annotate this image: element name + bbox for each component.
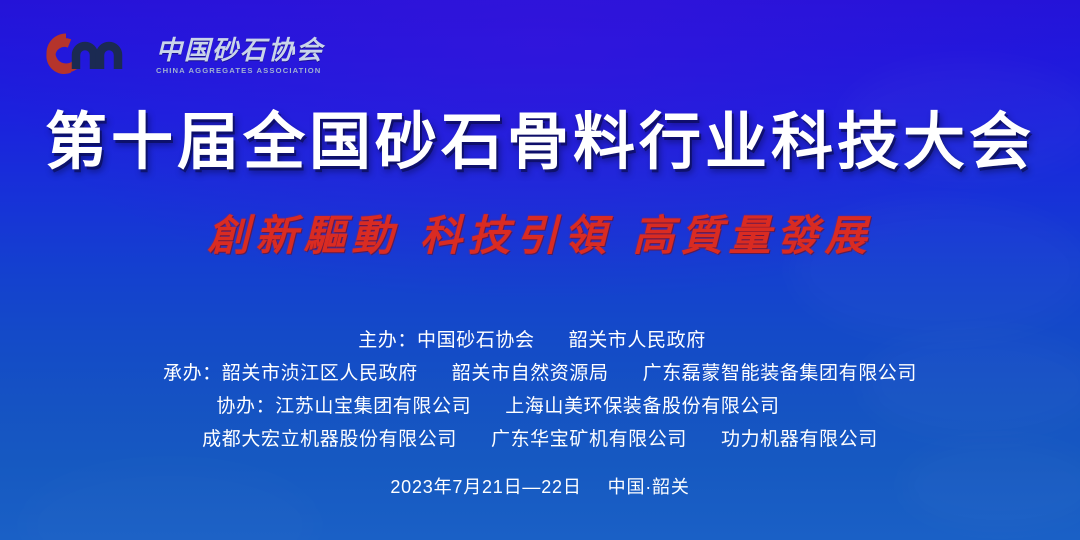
- organizer-entity: 韶关市浈江区人民政府: [222, 363, 418, 384]
- organizer-entity: 功力机器有限公司: [721, 429, 878, 450]
- organizer-role-label: 承办：: [163, 363, 222, 384]
- association-logo: 中国砂石协会 CHINA AGGREGATES ASSOCIATION: [36, 28, 324, 84]
- association-name-english: CHINA AGGREGATES ASSOCIATION: [156, 67, 327, 75]
- association-name-chinese: 中国砂石协会: [156, 38, 324, 64]
- conference-banner: 中国砂石协会 CHINA AGGREGATES ASSOCIATION 第十届全…: [0, 0, 1080, 540]
- organizer-entity: 江苏山宝集团有限公司: [275, 396, 471, 417]
- conference-title: 第十届全国砂石骨料行业科技大会: [0, 112, 1080, 174]
- organizer-entity: 中国砂石协会: [417, 330, 535, 351]
- organizer-row-coorganizer: 协办：江苏山宝集团有限公司上海山美环保装备股份有限公司: [0, 390, 1080, 423]
- conference-date: 2023年7月21日—22日: [390, 477, 581, 497]
- organizer-entity: 上海山美环保装备股份有限公司: [505, 396, 779, 417]
- organizer-row-coorganizer-cont: 成都大宏立机器股份有限公司广东华宝矿机有限公司功力机器有限公司: [0, 423, 1080, 456]
- organizer-role-label: 主办：: [358, 330, 417, 351]
- organizer-role-label: 协办：: [216, 396, 275, 417]
- background-watermark: [20, 460, 320, 540]
- date-location-bar: 2023年7月21日—22日中国·韶关: [0, 473, 1080, 499]
- organizer-row-undertaker: 承办：韶关市浈江区人民政府韶关市自然资源局广东磊蒙智能装备集团有限公司: [0, 357, 1080, 390]
- organizer-entity: 韶关市人民政府: [569, 330, 706, 351]
- organizers-block: 主办：中国砂石协会韶关市人民政府 承办：韶关市浈江区人民政府韶关市自然资源局广东…: [0, 324, 1080, 456]
- organizer-row-host: 主办：中国砂石协会韶关市人民政府: [0, 324, 1080, 357]
- organizer-entity: 韶关市自然资源局: [452, 363, 609, 384]
- association-name-block: 中国砂石协会 CHINA AGGREGATES ASSOCIATION: [156, 33, 324, 79]
- conference-location: 中国·韶关: [608, 477, 690, 497]
- conference-slogan: 創新驅動 科技引領 高質量發展: [0, 212, 1080, 260]
- caa-logo-icon: [36, 33, 148, 79]
- organizer-entity: 广东磊蒙智能装备集团有限公司: [643, 363, 917, 384]
- organizer-entity: 广东华宝矿机有限公司: [491, 429, 687, 450]
- organizer-entity: 成都大宏立机器股份有限公司: [202, 429, 457, 450]
